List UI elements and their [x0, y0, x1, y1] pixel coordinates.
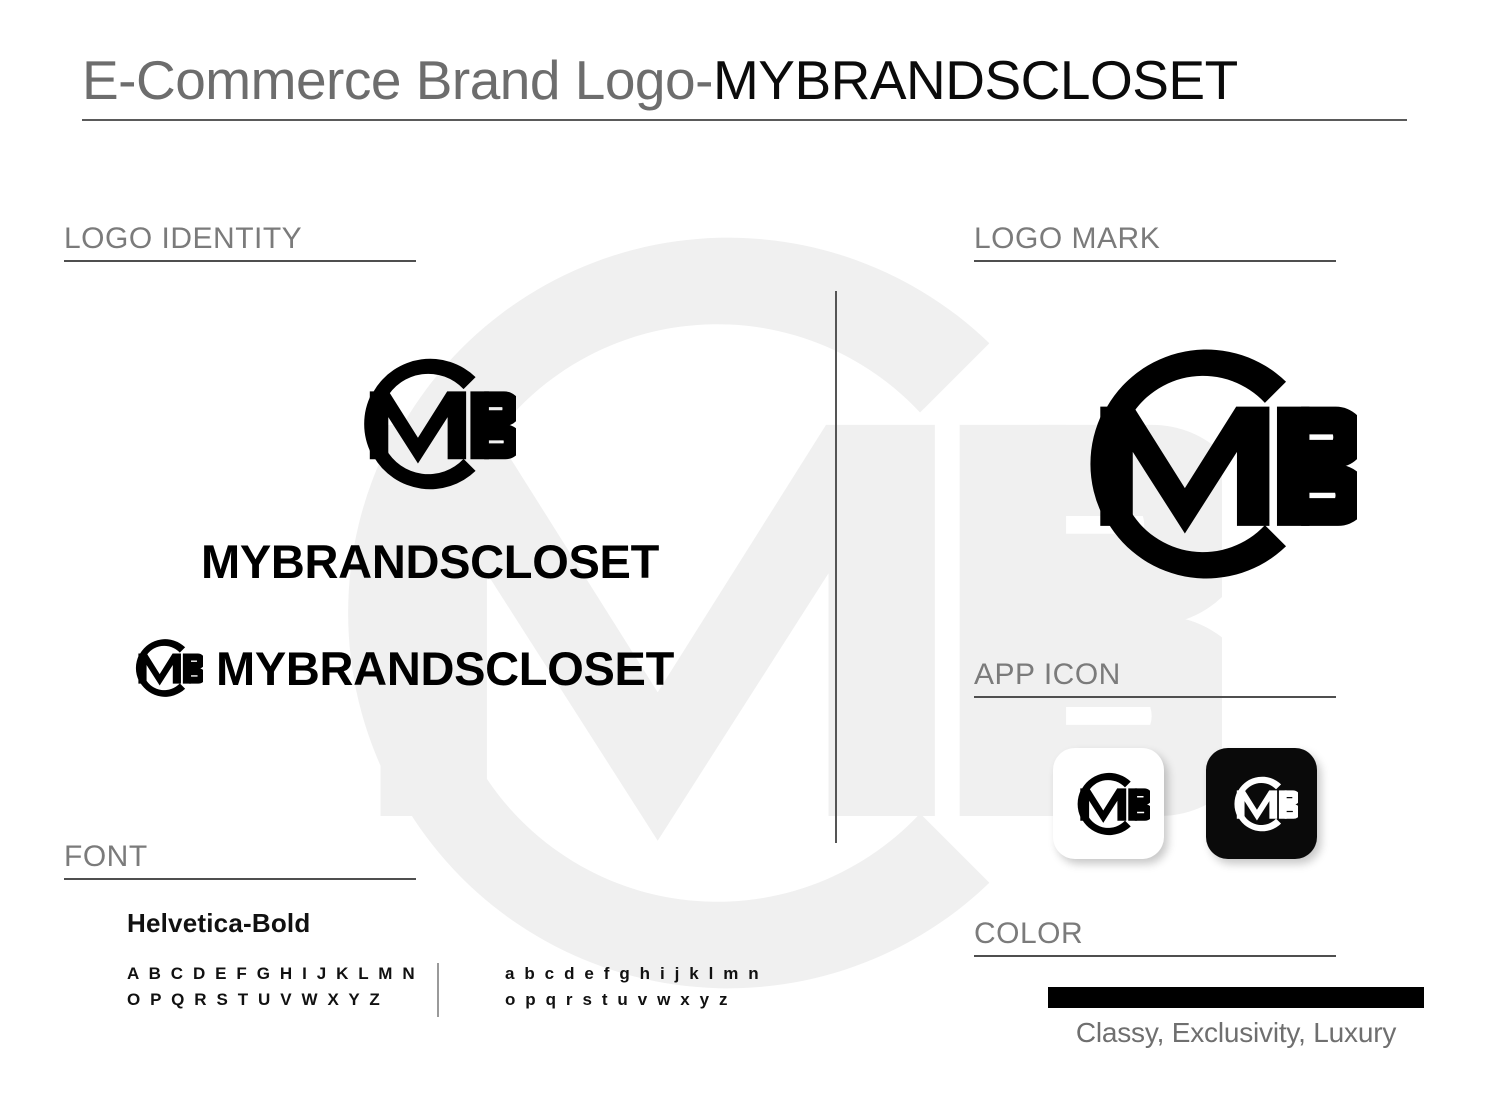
logo-identity-stacked-lockup: MYBRANDSCLOSET — [150, 338, 710, 589]
page-title: E-Commerce Brand Logo-MYBRANDSCLOSET — [82, 52, 1407, 110]
font-uppercase-specimen: A B C D E F G H I J K L M N O P Q R S T … — [127, 961, 437, 1014]
app-icon-light — [1053, 748, 1164, 859]
color-palette-block: Classy, Exclusivity, Luxury — [1048, 987, 1424, 1049]
section-heading-rule — [974, 955, 1336, 957]
section-heading-color: COLOR — [974, 917, 1336, 957]
font-lowercase-line-2: o p q r s t u v w x y z — [505, 987, 761, 1013]
section-heading-label: FONT — [64, 840, 416, 874]
section-heading-logo-mark: LOGO MARK — [974, 222, 1336, 262]
section-heading-label: APP ICON — [974, 658, 1336, 692]
section-heading-rule — [64, 878, 416, 880]
font-uppercase-line-2: O P Q R S T U V W X Y Z — [127, 987, 437, 1013]
font-lowercase-specimen: a b c d e f g h i j k l m n o p q r s t … — [505, 961, 761, 1014]
section-heading-rule — [64, 260, 416, 262]
font-specimen-separator — [437, 963, 439, 1017]
mb-monogram-icon-inverted — [1226, 768, 1298, 840]
mb-monogram-icon — [1068, 763, 1150, 845]
section-heading-rule — [974, 260, 1336, 262]
mb-monogram-icon-large — [1055, 313, 1357, 615]
section-heading-logo-identity: LOGO IDENTITY — [64, 222, 416, 262]
color-caption: Classy, Exclusivity, Luxury — [1048, 1017, 1424, 1049]
section-heading-label: COLOR — [974, 917, 1336, 951]
font-glyph-row: A B C D E F G H I J K L M N O P Q R S T … — [127, 961, 761, 1017]
app-icon-dark — [1206, 748, 1317, 859]
wordmark-secondary: MYBRANDSCLOSET — [216, 641, 674, 696]
section-heading-label: LOGO MARK — [974, 222, 1336, 256]
section-heading-label: LOGO IDENTITY — [64, 222, 416, 256]
header-divider — [82, 119, 1407, 121]
section-heading-rule — [974, 696, 1336, 698]
mb-monogram-icon — [127, 630, 203, 706]
font-uppercase-line-1: A B C D E F G H I J K L M N — [127, 961, 437, 987]
section-heading-app-icon: APP ICON — [974, 658, 1336, 698]
brand-guideline-page: E-Commerce Brand Logo-MYBRANDSCLOSET LOG… — [0, 0, 1487, 1107]
font-name: Helvetica-Bold — [127, 908, 761, 939]
page-title-brand: MYBRANDSCLOSET — [713, 49, 1238, 111]
font-lowercase-line-1: a b c d e f g h i j k l m n — [505, 961, 761, 987]
column-divider — [835, 291, 837, 843]
page-title-prefix: E-Commerce Brand Logo- — [82, 49, 713, 111]
app-icon-previews — [1053, 748, 1317, 859]
color-swatch-black — [1048, 987, 1424, 1008]
wordmark-primary: MYBRANDSCLOSET — [150, 534, 710, 589]
font-specimen-block: Helvetica-Bold A B C D E F G H I J K L M… — [127, 908, 761, 1017]
logo-identity-horizontal-lockup: MYBRANDSCLOSET — [127, 630, 674, 706]
mb-monogram-icon — [344, 338, 516, 510]
page-header: E-Commerce Brand Logo-MYBRANDSCLOSET — [82, 52, 1407, 121]
section-heading-font: FONT — [64, 840, 416, 880]
